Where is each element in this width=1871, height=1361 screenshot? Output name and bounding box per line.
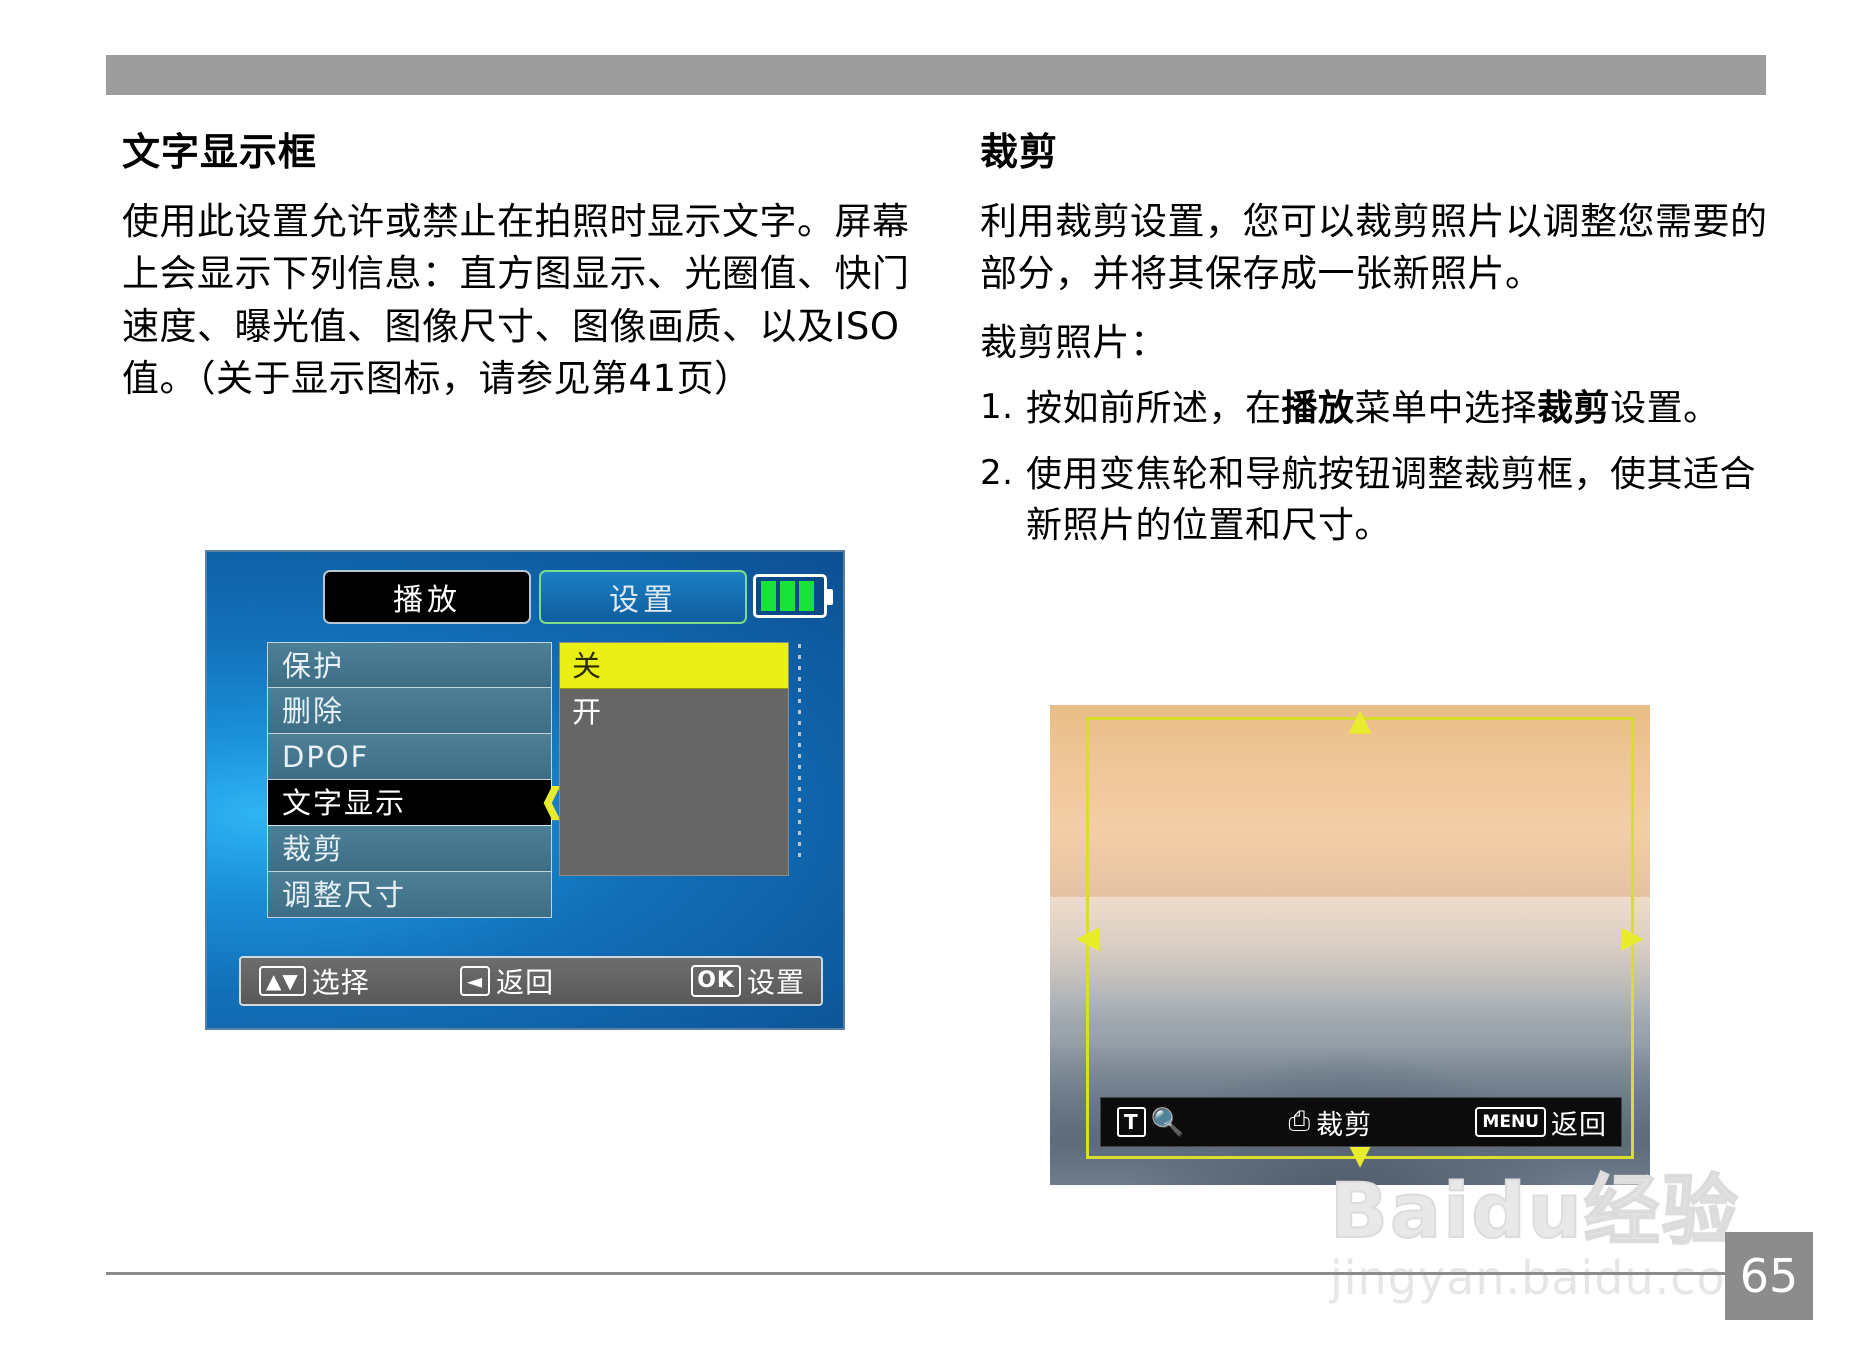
crop-bottom-bar: T 🔍 ⎙ 裁剪 MENU 返回 [1100, 1097, 1622, 1147]
step-number: 1. [980, 383, 1026, 431]
value-option-label: 开 [572, 695, 603, 729]
menu-item-label: 裁剪 [282, 832, 344, 866]
crop-preview-screenshot: ▲ ▼ ◀ ▶ T 🔍 ⎙ 裁剪 MENU 返回 [1050, 705, 1650, 1185]
hint-select: ▲▼ 选择 [259, 961, 370, 1001]
chevron-left-icon: ❰ [538, 786, 554, 820]
tab-setup-label: 设置 [609, 575, 677, 619]
value-option-on[interactable]: 开 [560, 689, 788, 735]
ok-button-icon: OK [691, 965, 741, 997]
crop-icon: ⎙ [1289, 1106, 1312, 1138]
step-text-part: 菜单中选择 [1355, 388, 1538, 429]
hint-set: OK 设置 [691, 961, 805, 1001]
menu-item-label: 调整尺寸 [282, 878, 406, 912]
footer-divider [106, 1272, 1766, 1275]
hint-back-label: 返回 [496, 961, 554, 1001]
camera-menu-bottom-bar: ▲▼ 选择 ◄ 返回 OK 设置 [239, 956, 823, 1006]
crop-frame[interactable]: ▲ ▼ ◀ ▶ [1086, 717, 1634, 1159]
step-number: 2. [980, 449, 1026, 497]
hint-zoom: T 🔍 [1117, 1106, 1185, 1138]
page-number: 65 [1725, 1232, 1813, 1320]
scrollbar[interactable] [795, 644, 803, 902]
hint-set-label: 设置 [747, 961, 805, 1001]
left-column: 文字显示框 使用此设置允许或禁止在拍照时显示文字。屏幕上会显示下列信息：直方图显… [122, 132, 912, 422]
value-option-off[interactable]: 关 [560, 643, 788, 689]
hint-menu-back: MENU 返回 [1475, 1103, 1607, 1142]
left-arrow-icon: ◄ [460, 966, 490, 996]
menu-item-protect[interactable]: 保护 [267, 642, 552, 688]
right-section-leadin: 裁剪照片： [980, 317, 1780, 370]
tab-playback[interactable]: 播放 [323, 570, 531, 624]
list-item: 2. 使用变焦轮和导航按钮调整裁剪框，使其适合新照片的位置和尺寸。 [980, 449, 1780, 551]
camera-menu-list: 保护 删除 DPOF 文字显示 ❰ 裁剪 调整尺寸 [267, 642, 552, 918]
magnifier-icon: 🔍 [1151, 1106, 1186, 1138]
step-text-bold: 播放 [1282, 388, 1355, 429]
left-section-title: 文字显示框 [122, 132, 912, 174]
list-item: 1. 按如前所述，在播放菜单中选择裁剪设置。 [980, 383, 1780, 434]
page-header-bar [106, 55, 1766, 95]
value-options-panel: 关 开 [559, 642, 789, 876]
menu-item-label: 删除 [282, 694, 344, 728]
hint-menu-back-label: 返回 [1551, 1103, 1607, 1142]
left-section-paragraph: 使用此设置允许或禁止在拍照时显示文字。屏幕上会显示下列信息：直方图显示、光圈值、… [122, 196, 912, 406]
updown-arrows-icon: ▲▼ [259, 966, 306, 996]
menu-item-dpof[interactable]: DPOF [267, 734, 552, 780]
hint-select-label: 选择 [312, 961, 370, 1001]
manual-page: 文字显示框 使用此设置允许或禁止在拍照时显示文字。屏幕上会显示下列信息：直方图显… [0, 0, 1871, 1361]
top-handle-icon[interactable]: ▲ [1348, 706, 1371, 736]
menu-item-label: 保护 [282, 649, 344, 683]
step-text-part: 设置。 [1610, 388, 1720, 429]
menu-item-label: 文字显示 [282, 786, 406, 820]
menu-item-delete[interactable]: 删除 [267, 688, 552, 734]
value-option-label: 关 [572, 649, 603, 683]
step-text: 使用变焦轮和导航按钮调整裁剪框，使其适合新照片的位置和尺寸。 [1026, 449, 1780, 551]
step-text-part: 按如前所述，在 [1026, 388, 1282, 429]
menu-item-crop[interactable]: 裁剪 [267, 826, 552, 872]
right-section-title: 裁剪 [980, 132, 1780, 174]
hint-crop-label: 裁剪 [1316, 1103, 1372, 1142]
crop-steps-list: 1. 按如前所述，在播放菜单中选择裁剪设置。 2. 使用变焦轮和导航按钮调整裁剪… [980, 383, 1780, 550]
right-section-paragraph: 利用裁剪设置，您可以裁剪照片以调整您需要的部分，并将其保存成一张新照片。 [980, 196, 1780, 301]
right-handle-icon[interactable]: ▶ [1621, 923, 1644, 953]
hint-back: ◄ 返回 [460, 961, 554, 1001]
menu-item-resize[interactable]: 调整尺寸 [267, 872, 552, 918]
battery-full-icon [753, 574, 827, 618]
right-column: 裁剪 利用裁剪设置，您可以裁剪照片以调整您需要的部分，并将其保存成一张新照片。 … [980, 132, 1780, 565]
tab-setup[interactable]: 设置 [539, 570, 747, 624]
hint-crop: ⎙ 裁剪 [1289, 1103, 1373, 1142]
camera-menu-screenshot: 播放 设置 保护 删除 DPOF 文字显示 ❰ 裁剪 [205, 550, 845, 1030]
left-handle-icon[interactable]: ◀ [1076, 923, 1099, 953]
menu-button-icon: MENU [1475, 1107, 1546, 1137]
menu-item-label: DPOF [282, 740, 369, 774]
step-text: 按如前所述，在播放菜单中选择裁剪设置。 [1026, 383, 1780, 434]
zoom-tele-icon: T [1117, 1107, 1146, 1137]
step-text-bold: 裁剪 [1537, 388, 1610, 429]
tab-playback-label: 播放 [393, 575, 461, 619]
menu-item-text-display[interactable]: 文字显示 ❰ [267, 780, 552, 826]
